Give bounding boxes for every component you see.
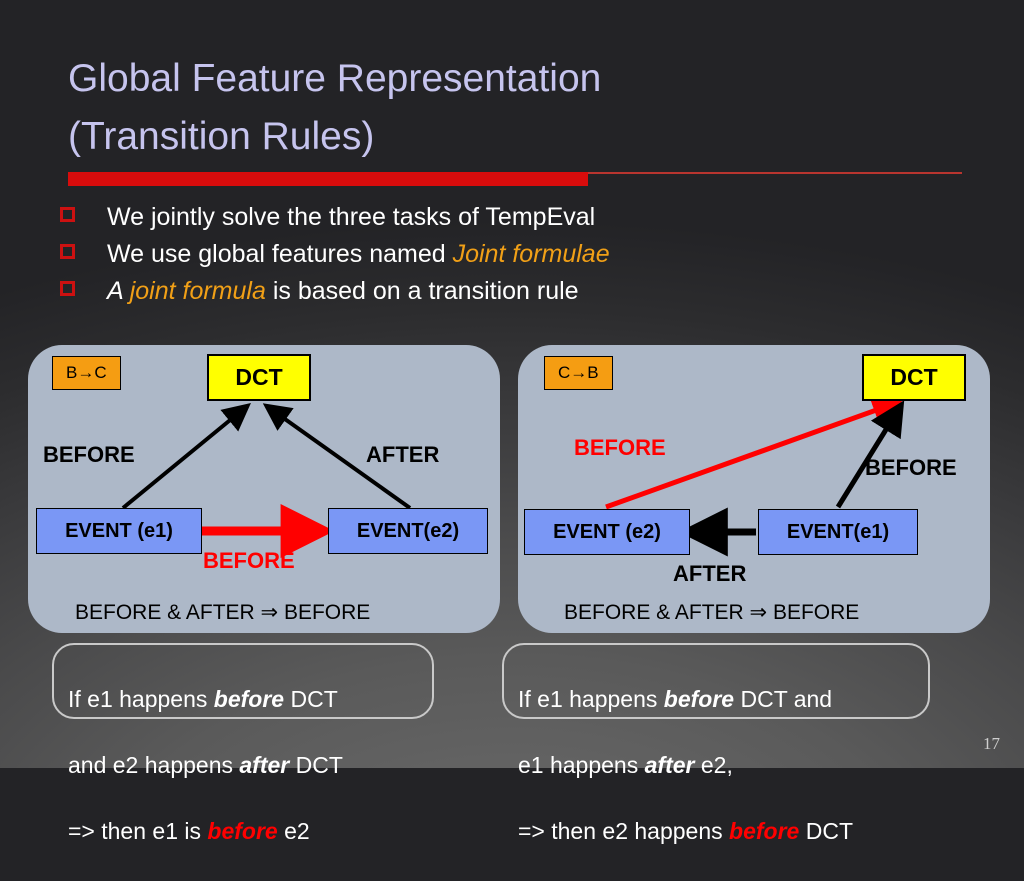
list-item: We use global features named Joint formu… (60, 240, 960, 277)
caption-left-line2: and e2 happens after DCT (68, 749, 468, 782)
title-underline-thick (68, 172, 588, 186)
diagram-panel-after-before: C→B DCT BEFORE BEFORE EVENT (e2) EVENT(e… (518, 345, 990, 633)
list-item-label: We use global features named Joint formu… (107, 240, 610, 269)
label-after-right: AFTER (366, 442, 439, 468)
title-underline-thin (588, 172, 962, 174)
bullet-square-icon (60, 281, 75, 296)
bullet-square-icon (60, 244, 75, 259)
caption-left-line1: If e1 happens before DCT (68, 683, 468, 716)
list-item: We jointly solve the three tasks of Temp… (60, 203, 960, 240)
node-event-e1: EVENT (e1) (36, 508, 202, 554)
label-before-left: BEFORE (43, 442, 135, 468)
list-item: A joint formula is based on a transition… (60, 277, 960, 314)
caption-left-line3: => then e1 is before e2 (68, 815, 468, 848)
page-title: Global Feature Representation (Transitio… (68, 50, 948, 166)
list-item-label: A joint formula is based on a transition… (107, 277, 579, 306)
left-panel-footer: BEFORE & AFTER ⇒ BEFORE (75, 600, 370, 625)
slide-canvas: Global Feature Representation (Transitio… (0, 0, 1024, 768)
list-item-label: We jointly solve the three tasks of Temp… (107, 203, 595, 232)
caption-right-line2: e1 happens after e2, (518, 749, 958, 782)
label-before-black: BEFORE (865, 455, 957, 481)
node-event-e2: EVENT (e2) (524, 509, 690, 555)
bullet-list: We jointly solve the three tasks of Temp… (60, 203, 960, 314)
node-dct: DCT (207, 354, 311, 401)
bullet-square-icon (60, 207, 75, 222)
caption-right: If e1 happens before DCT and e1 happens … (518, 650, 958, 881)
caption-left: If e1 happens before DCT and e2 happens … (68, 650, 468, 881)
transition-badge-b-to-c: B→C (52, 356, 121, 390)
emphasis-joint-formula: joint formula (130, 277, 266, 305)
page-number: 17 (983, 734, 1000, 754)
diagram-panel-before-after: B→C DCT BEFORE AFTER EVENT (e1) EVENT(e2… (28, 345, 500, 633)
label-before-red: BEFORE (574, 435, 666, 461)
caption-right-line1: If e1 happens before DCT and (518, 683, 958, 716)
transition-badge-c-to-b: C→B (544, 356, 613, 390)
node-event-e2: EVENT(e2) (328, 508, 488, 554)
emphasis-joint-formulae: Joint formulae (453, 240, 610, 268)
label-before-edge: BEFORE (203, 548, 295, 574)
node-dct: DCT (862, 354, 966, 401)
right-panel-footer: BEFORE & AFTER ⇒ BEFORE (564, 600, 859, 625)
label-after-bottom: AFTER (673, 561, 746, 587)
node-event-e1: EVENT(e1) (758, 509, 918, 555)
caption-right-line3: => then e2 happens before DCT (518, 815, 958, 848)
